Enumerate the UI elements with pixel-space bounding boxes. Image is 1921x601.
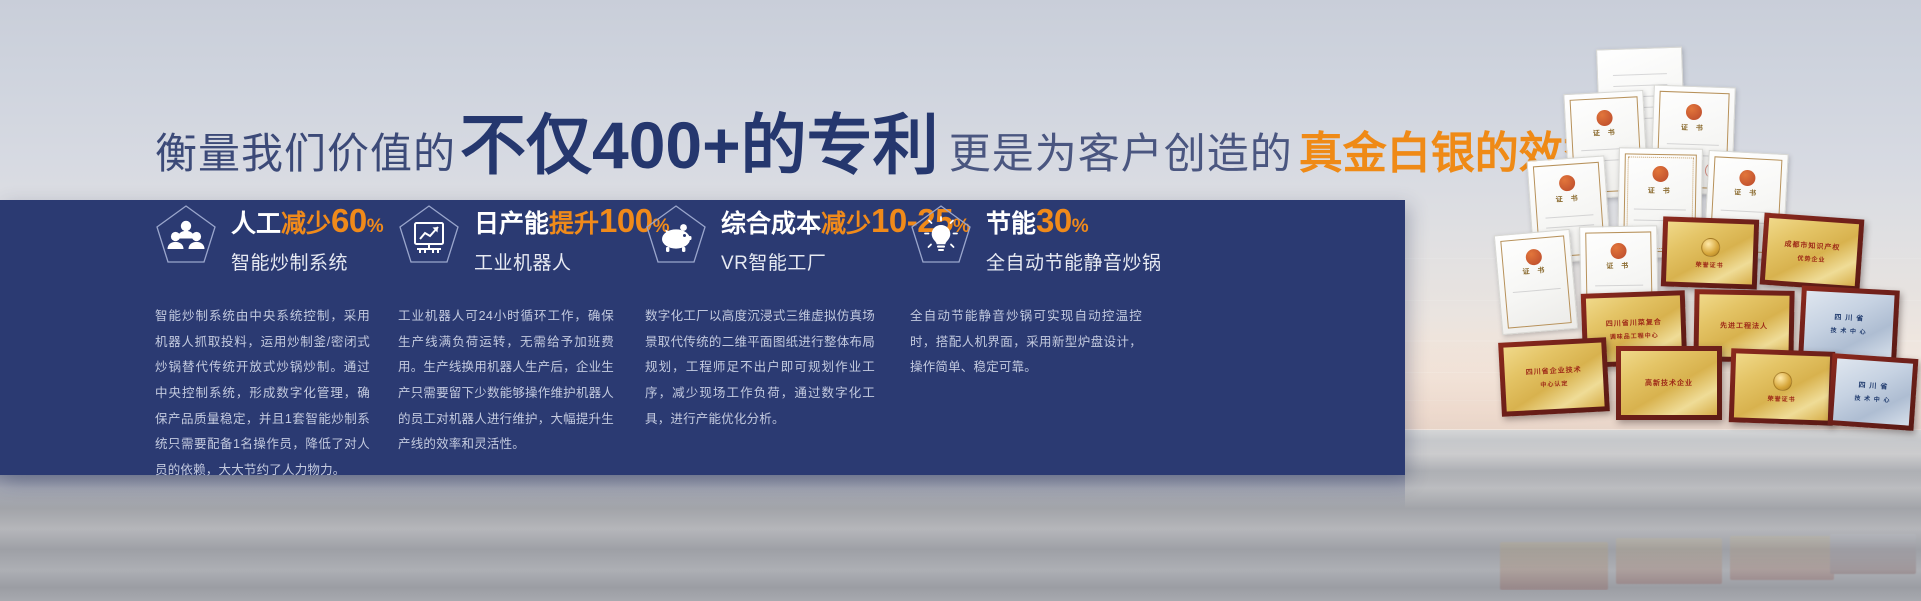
piggy-bank-icon <box>645 204 707 272</box>
feature-title: 日产能提升100% <box>474 204 670 237</box>
award-plaque-9: 四 川 省技 术 中 心 <box>1828 353 1919 431</box>
feature-metric-percent: % <box>367 216 384 237</box>
feature-subtitle: 全自动节能静音炒锅 <box>986 248 1162 275</box>
lightbulb-icon <box>910 204 972 272</box>
feature-header: 日产能提升100%工业机器人 <box>398 200 614 286</box>
feature-list: 人工减少60%智能炒制系统智能炒制系统由中央系统控制，采用机器人抓取投料，运用炒… <box>0 200 1405 475</box>
feature-item-1: 人工减少60%智能炒制系统智能炒制系统由中央系统控制，采用机器人抓取投料，运用炒… <box>155 200 370 483</box>
headline: 衡量我们价值的 不仅400+的专利 更是为客户创造的 真金白银的效益 <box>155 92 1607 188</box>
feature-metric-percent: % <box>1072 216 1089 237</box>
feature-title: 节能30% <box>986 204 1162 237</box>
chart-board-icon <box>398 204 460 272</box>
feature-title-main: 日产能 <box>474 210 549 238</box>
headline-middle: 更是为客户创造的 <box>943 120 1293 181</box>
feature-body-text: 工业机器人可24小时循环工作，确保生产线满负荷运转，无需给予加班费用。生产线换用… <box>398 304 614 458</box>
award-plaque-1: 荣誉证书 <box>1661 216 1759 289</box>
award-plaque-6: 四川省企业技术中心认定 <box>1498 337 1610 417</box>
award-plaque-2: 成都市知识产权优势企业 <box>1760 213 1865 292</box>
headline-emphasis: 不仅400+的专利 <box>456 92 943 188</box>
headline-prefix: 衡量我们价值的 <box>155 120 456 181</box>
feature-body-text: 全自动节能静音炒锅可实现自动控温控时，搭配人机界面，采用新型炉盘设计，操作简单、… <box>910 304 1142 381</box>
feature-title-main: 节能 <box>986 210 1036 238</box>
feature-title-verb: 提升 <box>549 210 599 238</box>
feature-title-main: 人工 <box>231 210 281 238</box>
feature-item-3: 综合成本减少10-25%VR智能工厂数字化工厂以高度沉浸式三维虚拟仿真场景取代传… <box>645 200 875 432</box>
feature-subtitle: 智能炒制系统 <box>231 248 384 275</box>
certificate-paper-7: 证 书 <box>1494 229 1578 335</box>
feature-title-verb: 减少 <box>281 210 331 238</box>
feature-title: 人工减少60% <box>231 204 384 237</box>
certificate-reflection <box>1470 470 1921 590</box>
feature-body-text: 智能炒制系统由中央系统控制，采用机器人抓取投料，运用炒制釜/密闭式炒锅替代传统开… <box>155 304 370 483</box>
certificate-stack: 证 书 证 书 证 书 证 书 证 书 证 书 <box>1470 40 1921 480</box>
feature-title-verb: 减少 <box>821 210 871 238</box>
feature-titles: 日产能提升100%工业机器人 <box>474 200 670 275</box>
feature-subtitle: 工业机器人 <box>474 248 670 275</box>
feature-metric-number: 60 <box>331 202 367 239</box>
feature-panel: 人工减少60%智能炒制系统智能炒制系统由中央系统控制，采用机器人抓取投料，运用炒… <box>0 200 1405 475</box>
feature-title-main: 综合成本 <box>721 210 821 238</box>
feature-item-2: 日产能提升100%工业机器人工业机器人可24小时循环工作，确保生产线满负荷运转，… <box>398 200 614 458</box>
feature-header: 节能30%全自动节能静音炒锅 <box>910 200 1142 286</box>
feature-header: 综合成本减少10-25%VR智能工厂 <box>645 200 875 286</box>
award-plaque-8: 荣誉证书 <box>1729 348 1836 426</box>
banner-stage: 衡量我们价值的 不仅400+的专利 更是为客户创造的 真金白银的效益 人工减少6… <box>0 0 1921 601</box>
feature-body-text: 数字化工厂以高度沉浸式三维虚拟仿真场景取代传统的二维平面图纸进行整体布局规划，工… <box>645 304 875 432</box>
feature-titles: 节能30%全自动节能静音炒锅 <box>986 200 1162 275</box>
feature-metric-number: 30 <box>1036 202 1072 239</box>
feature-titles: 人工减少60%智能炒制系统 <box>231 200 384 275</box>
people-group-icon <box>155 204 217 272</box>
feature-header: 人工减少60%智能炒制系统 <box>155 200 370 286</box>
feature-item-4: 节能30%全自动节能静音炒锅全自动节能静音炒锅可实现自动控温控时，搭配人机界面，… <box>910 200 1142 381</box>
award-plaque-7: 高新技术企业 <box>1616 346 1722 420</box>
